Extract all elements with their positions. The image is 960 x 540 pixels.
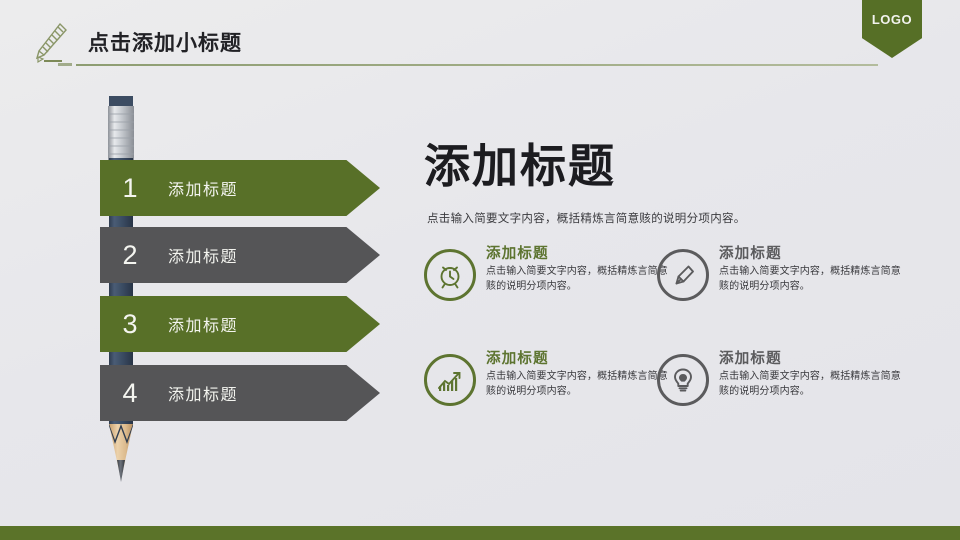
- logo-badge[interactable]: LOGO: [862, 0, 922, 58]
- main-heading: 添加标题: [424, 142, 616, 190]
- feature-icon-circle: [657, 354, 709, 406]
- feature-body: 点击输入简要文字内容，概括精炼言简意赅的说明分项内容。: [719, 265, 903, 294]
- step-label: 添加标题: [168, 381, 238, 405]
- feature-icon-circle: [424, 354, 476, 406]
- lightbulb-icon: [668, 365, 698, 395]
- feature-item-1[interactable]: 添加标题 点击输入简要文字内容，概括精炼言简意赅的说明分项内容。: [424, 245, 670, 309]
- feature-item-4[interactable]: 添加标题 点击输入简要文字内容，概括精炼言简意赅的说明分项内容。: [657, 350, 903, 414]
- pencil-icon: [30, 21, 70, 65]
- feature-text: 添加标题 点击输入简要文字内容，概括精炼言简意赅的说明分项内容。: [719, 350, 903, 399]
- step-label: 添加标题: [168, 312, 238, 336]
- header-rule-cap: [58, 63, 72, 66]
- step-number: 1: [100, 175, 160, 202]
- feature-body: 点击输入简要文字内容，概括精炼言简意赅的说明分项内容。: [486, 265, 670, 294]
- large-pencil-illustration: [104, 96, 138, 486]
- feature-title: 添加标题: [486, 350, 670, 368]
- feature-item-2[interactable]: 添加标题 点击输入简要文字内容，概括精炼言简意赅的说明分项内容。: [657, 245, 903, 309]
- feature-icon-circle: [657, 249, 709, 301]
- page-title: 点击添加小标题: [88, 27, 242, 57]
- step-item-2[interactable]: 2 添加标题: [100, 227, 380, 283]
- logo-label: LOGO: [872, 12, 912, 27]
- step-item-1[interactable]: 1 添加标题: [100, 160, 380, 216]
- feature-body: 点击输入简要文字内容，概括精炼言简意赅的说明分项内容。: [719, 370, 903, 399]
- header-divider: [76, 64, 878, 66]
- feature-text: 添加标题 点击输入简要文字内容，概括精炼言简意赅的说明分项内容。: [719, 245, 903, 294]
- feature-item-3[interactable]: 添加标题 点击输入简要文字内容，概括精炼言简意赅的说明分项内容。: [424, 350, 670, 414]
- growth-chart-icon: [435, 365, 465, 395]
- bottom-accent-bar: [0, 526, 960, 540]
- step-item-4[interactable]: 4 添加标题: [100, 365, 380, 421]
- alarm-clock-icon: [435, 260, 465, 290]
- pen-nib-icon: [668, 260, 698, 290]
- slide-canvas: 点击添加小标题 LOGO: [0, 0, 960, 540]
- feature-title: 添加标题: [486, 245, 670, 263]
- slide-header: 点击添加小标题 LOGO: [0, 0, 960, 80]
- feature-icon-circle: [424, 249, 476, 301]
- step-number: 4: [100, 380, 160, 407]
- step-number: 2: [100, 242, 160, 269]
- main-subtitle: 点击输入简要文字内容，概括精炼言简意赅的说明分项内容。: [427, 210, 746, 226]
- step-label: 添加标题: [168, 176, 238, 200]
- feature-text: 添加标题 点击输入简要文字内容，概括精炼言简意赅的说明分项内容。: [486, 350, 670, 399]
- feature-body: 点击输入简要文字内容，概括精炼言简意赅的说明分项内容。: [486, 370, 670, 399]
- feature-title: 添加标题: [719, 350, 903, 368]
- feature-title: 添加标题: [719, 245, 903, 263]
- step-item-3[interactable]: 3 添加标题: [100, 296, 380, 352]
- step-label: 添加标题: [168, 243, 238, 267]
- feature-text: 添加标题 点击输入简要文字内容，概括精炼言简意赅的说明分项内容。: [486, 245, 670, 294]
- step-number: 3: [100, 311, 160, 338]
